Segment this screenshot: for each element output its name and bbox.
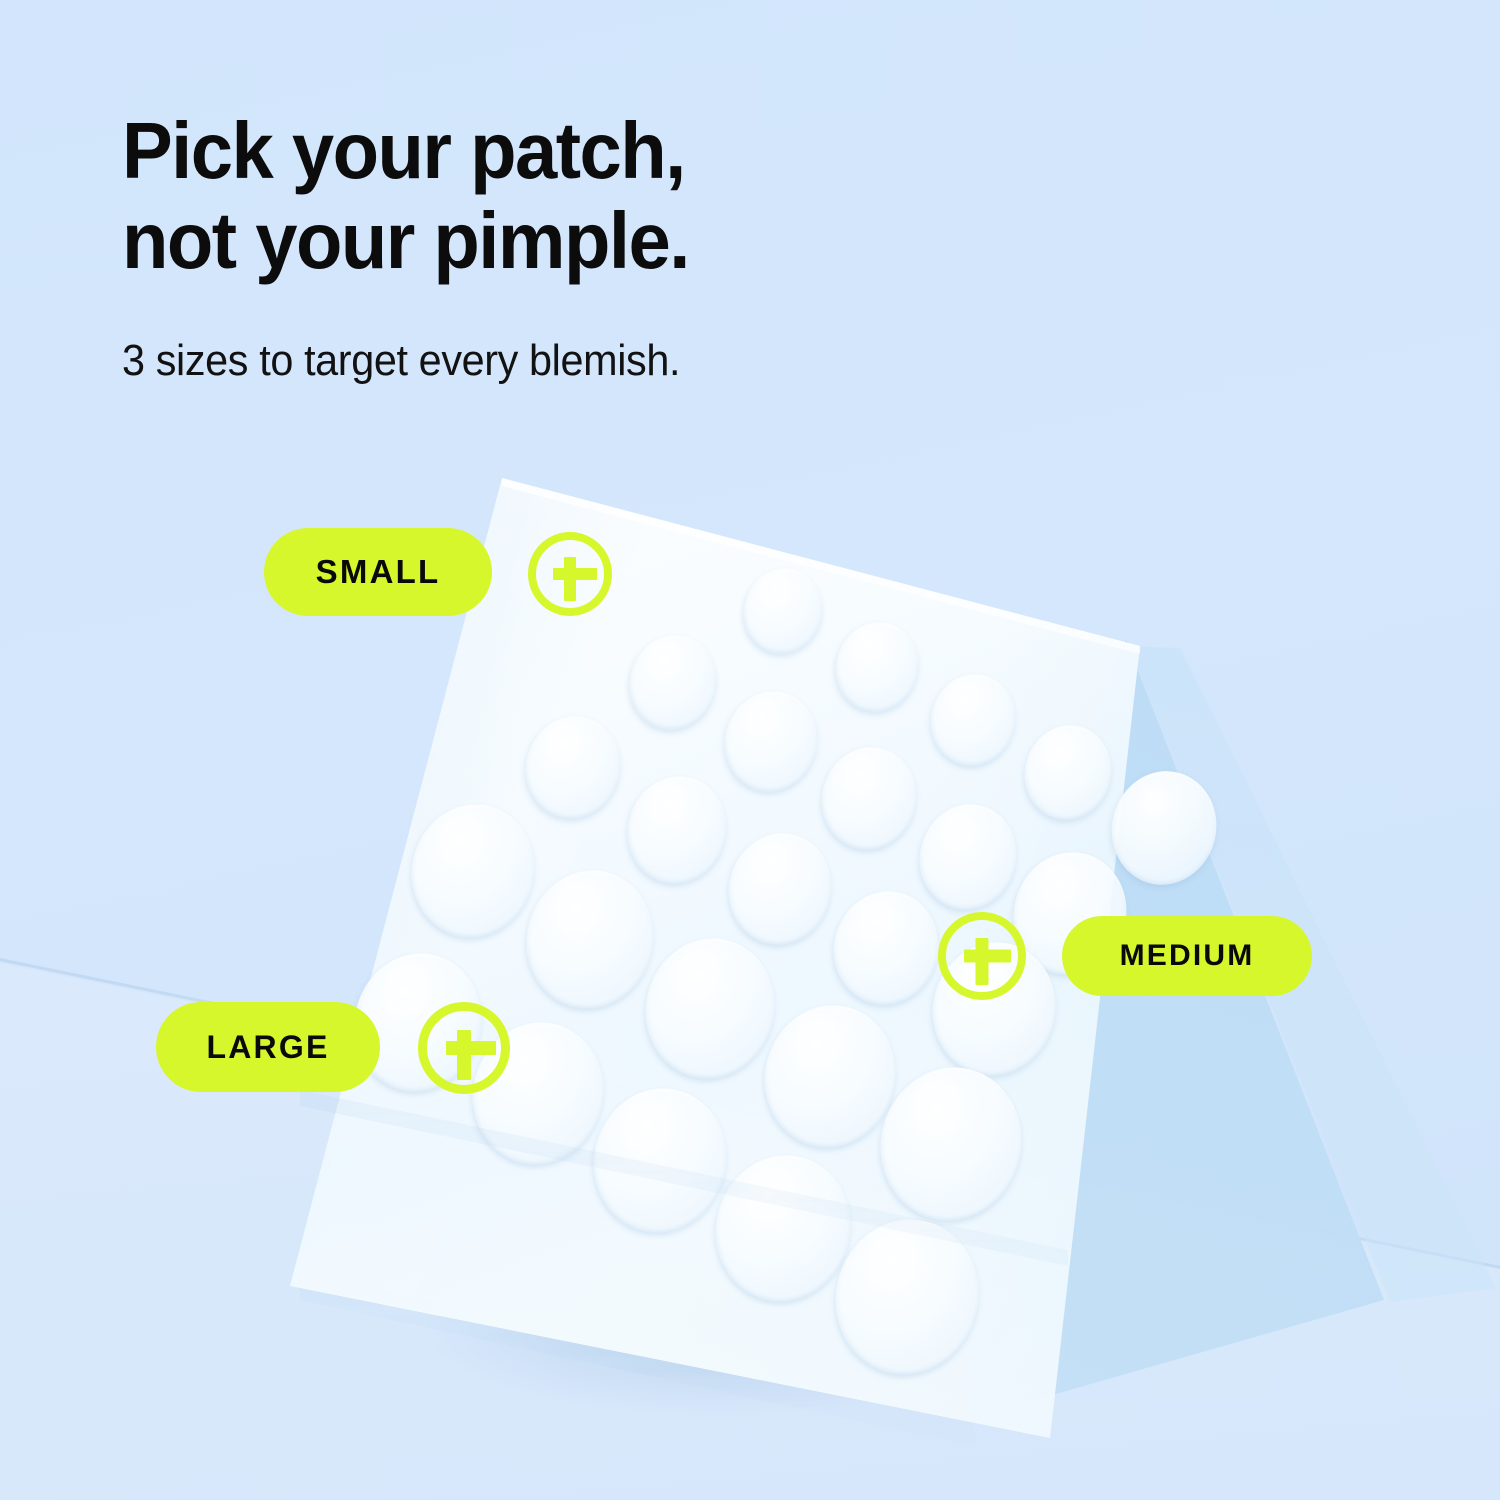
plus-in-circle-icon-large — [418, 1002, 510, 1094]
size-label-small-text: SMALL — [316, 553, 441, 591]
size-label-medium[interactable]: MEDIUM — [1062, 916, 1312, 996]
size-label-large-text: LARGE — [207, 1029, 330, 1066]
page-headline: Pick your patch, not your pimple. — [122, 106, 689, 285]
page-subheadline: 3 sizes to target every blemish. — [122, 336, 680, 386]
size-label-large[interactable]: LARGE — [156, 1002, 380, 1092]
plus-in-circle-icon-small — [528, 532, 612, 616]
size-label-small[interactable]: SMALL — [264, 528, 492, 616]
plus-in-circle-icon-medium — [938, 912, 1026, 1000]
product-scene: SMALL MEDIUM LARGE Pick your patch, not … — [0, 0, 1500, 1500]
size-label-medium-text: MEDIUM — [1120, 939, 1255, 973]
